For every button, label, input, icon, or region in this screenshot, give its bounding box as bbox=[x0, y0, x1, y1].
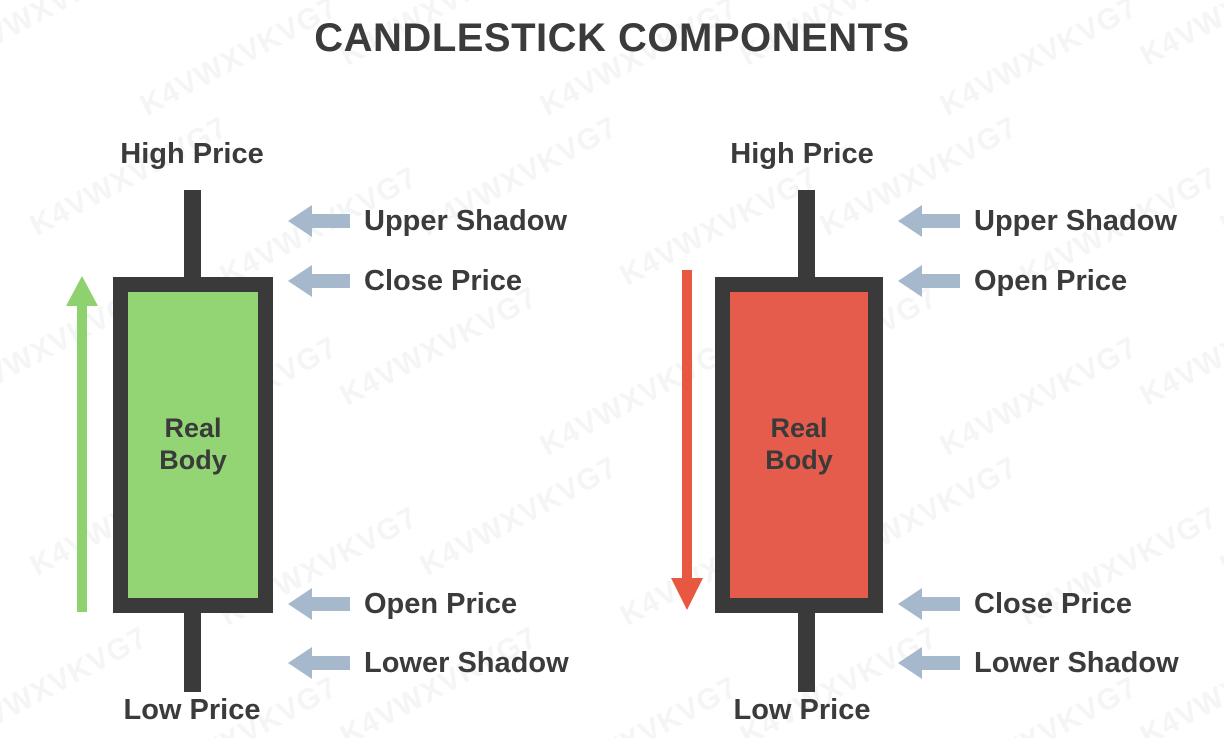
bullish-candle-group: High Price Real Body Low Price Upper Sha… bbox=[0, 0, 612, 738]
left-arrow-icon bbox=[288, 645, 350, 681]
low-price-label: Low Price bbox=[92, 694, 292, 727]
callout-open-price: Open Price bbox=[288, 586, 517, 622]
real-body-label: Real Body bbox=[113, 413, 273, 477]
callout-label: Open Price bbox=[974, 265, 1127, 298]
callout-upper-shadow: Upper Shadow bbox=[898, 203, 1177, 239]
callout-label: Close Price bbox=[974, 588, 1132, 621]
left-arrow-icon bbox=[898, 203, 960, 239]
left-arrow-icon bbox=[898, 263, 960, 299]
down-arrow-icon bbox=[669, 270, 705, 610]
upper-shadow-wick bbox=[798, 190, 815, 285]
left-arrow-icon bbox=[898, 645, 960, 681]
callout-label: Open Price bbox=[364, 588, 517, 621]
callout-label: Close Price bbox=[364, 265, 522, 298]
callout-lower-shadow: Lower Shadow bbox=[898, 645, 1179, 681]
page-title: CANDLESTICK COMPONENTS bbox=[0, 16, 1224, 61]
callout-label: Lower Shadow bbox=[364, 647, 569, 680]
real-body-frame: Real Body bbox=[715, 277, 883, 613]
callout-close-price: Close Price bbox=[288, 263, 522, 299]
callout-label: Upper Shadow bbox=[364, 205, 567, 238]
low-price-label: Low Price bbox=[702, 694, 902, 727]
high-price-label: High Price bbox=[92, 138, 292, 171]
callout-lower-shadow: Lower Shadow bbox=[288, 645, 569, 681]
bearish-candle-group: High Price Real Body Low Price Upper Sha… bbox=[612, 0, 1224, 738]
left-arrow-icon bbox=[288, 263, 350, 299]
left-arrow-icon bbox=[898, 586, 960, 622]
left-arrow-icon bbox=[288, 586, 350, 622]
upper-shadow-wick bbox=[184, 190, 201, 285]
real-body-label: Real Body bbox=[715, 413, 883, 477]
callout-close-price: Close Price bbox=[898, 586, 1132, 622]
left-arrow-icon bbox=[288, 203, 350, 239]
high-price-label: High Price bbox=[702, 138, 902, 171]
callout-open-price: Open Price bbox=[898, 263, 1127, 299]
callout-label: Upper Shadow bbox=[974, 205, 1177, 238]
real-body-frame: Real Body bbox=[113, 277, 273, 613]
callout-label: Lower Shadow bbox=[974, 647, 1179, 680]
lower-shadow-wick bbox=[798, 600, 815, 692]
lower-shadow-wick bbox=[184, 600, 201, 692]
up-arrow-icon bbox=[64, 276, 100, 612]
callout-upper-shadow: Upper Shadow bbox=[288, 203, 567, 239]
